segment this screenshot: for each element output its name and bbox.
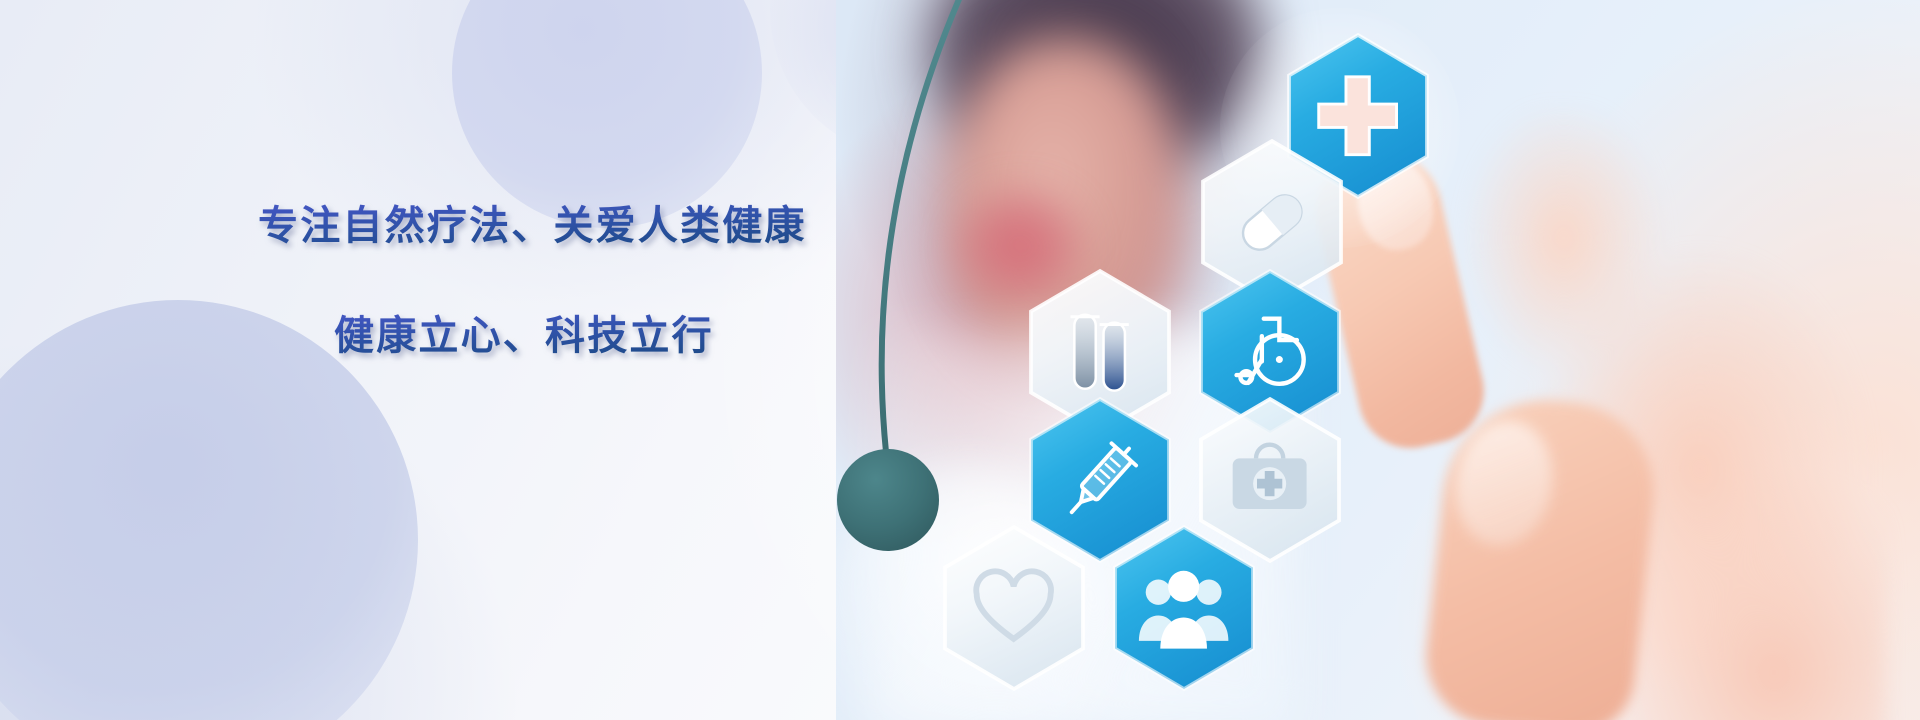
heart-pulse-icon bbox=[938, 524, 1090, 692]
hex-icon-cluster bbox=[896, 0, 1536, 720]
photo-panel bbox=[836, 0, 1920, 720]
headline-line-2: 健康立心、科技立行 bbox=[334, 303, 714, 361]
headline-group: 专注自然疗法、关爱人类健康 健康立心、科技立行 bbox=[0, 0, 880, 720]
headline-line-1: 专注自然疗法、关爱人类健康 bbox=[258, 193, 807, 251]
health-banner: 专注自然疗法、关爱人类健康 健康立心、科技立行 bbox=[0, 0, 1920, 720]
people-group-icon bbox=[1108, 524, 1260, 692]
hex-heart[interactable] bbox=[938, 524, 1090, 692]
hex-people-group[interactable] bbox=[1108, 524, 1260, 692]
